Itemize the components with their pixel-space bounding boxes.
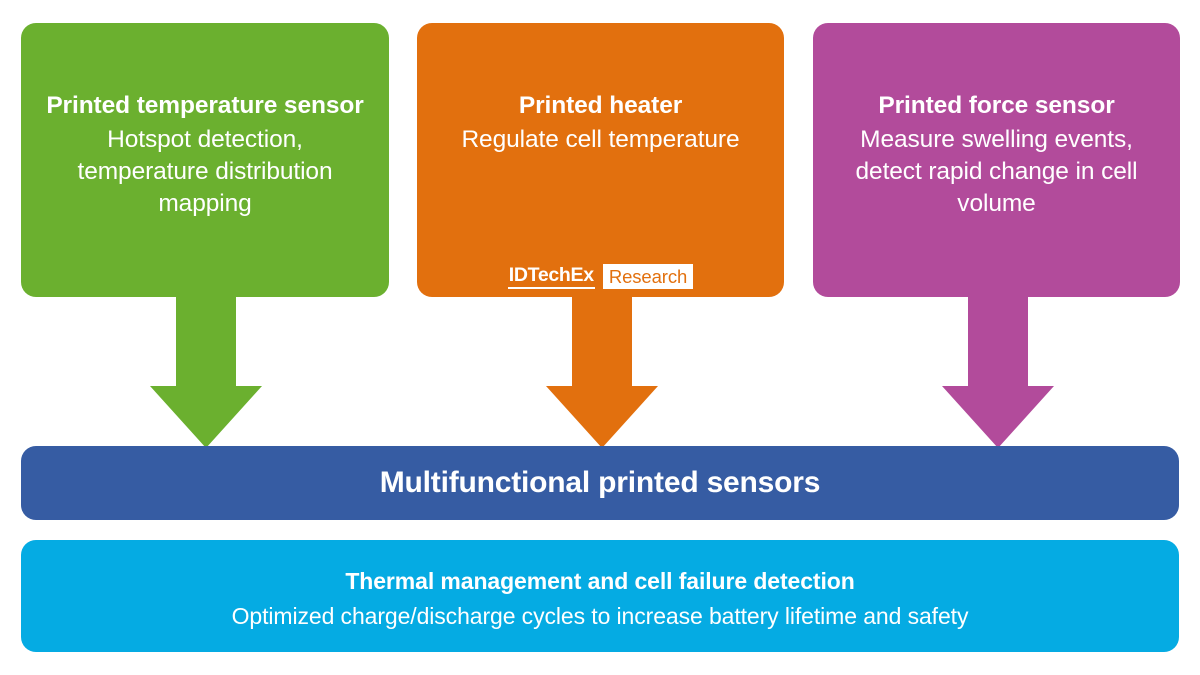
- idtechex-wordmark: IDTechEx: [508, 264, 595, 289]
- outcome-bar-subtitle: Optimized charge/discharge cycles to inc…: [21, 602, 1179, 632]
- summary-bar-multifunctional-printed-sensors[interactable]: Multifunctional printed sensors: [21, 446, 1179, 520]
- card-description: Regulate cell temperature: [435, 124, 766, 156]
- card-text-block: Printed force sensor Measure swelling ev…: [831, 91, 1162, 219]
- outcome-bar-thermal-management[interactable]: Thermal management and cell failure dete…: [21, 540, 1179, 652]
- card-printed-temperature-sensor[interactable]: Printed temperature sensor Hotspot detec…: [21, 23, 389, 297]
- down-arrow-icon-purple: [942, 296, 1054, 448]
- diagram-canvas: Printed temperature sensor Hotspot detec…: [0, 0, 1200, 675]
- card-text-block: Printed heater Regulate cell temperature: [435, 91, 766, 156]
- card-title: Printed force sensor: [831, 91, 1162, 122]
- card-printed-heater[interactable]: Printed heater Regulate cell temperature…: [417, 23, 784, 297]
- card-description: Hotspot detection, temperature distribut…: [39, 124, 371, 220]
- summary-bar-label: Multifunctional printed sensors: [380, 466, 821, 500]
- card-text-block: Printed temperature sensor Hotspot detec…: [39, 91, 371, 219]
- card-title: Printed heater: [435, 91, 766, 122]
- research-badge: Research: [603, 264, 693, 289]
- card-title: Printed temperature sensor: [39, 91, 371, 122]
- idtechex-research-logo: IDTechEx Research: [417, 264, 784, 289]
- down-arrow-icon-green: [150, 296, 262, 448]
- down-arrow-icon-orange: [546, 296, 658, 448]
- card-printed-force-sensor[interactable]: Printed force sensor Measure swelling ev…: [813, 23, 1180, 297]
- card-description: Measure swelling events, detect rapid ch…: [831, 124, 1162, 220]
- outcome-bar-title: Thermal management and cell failure dete…: [21, 567, 1179, 597]
